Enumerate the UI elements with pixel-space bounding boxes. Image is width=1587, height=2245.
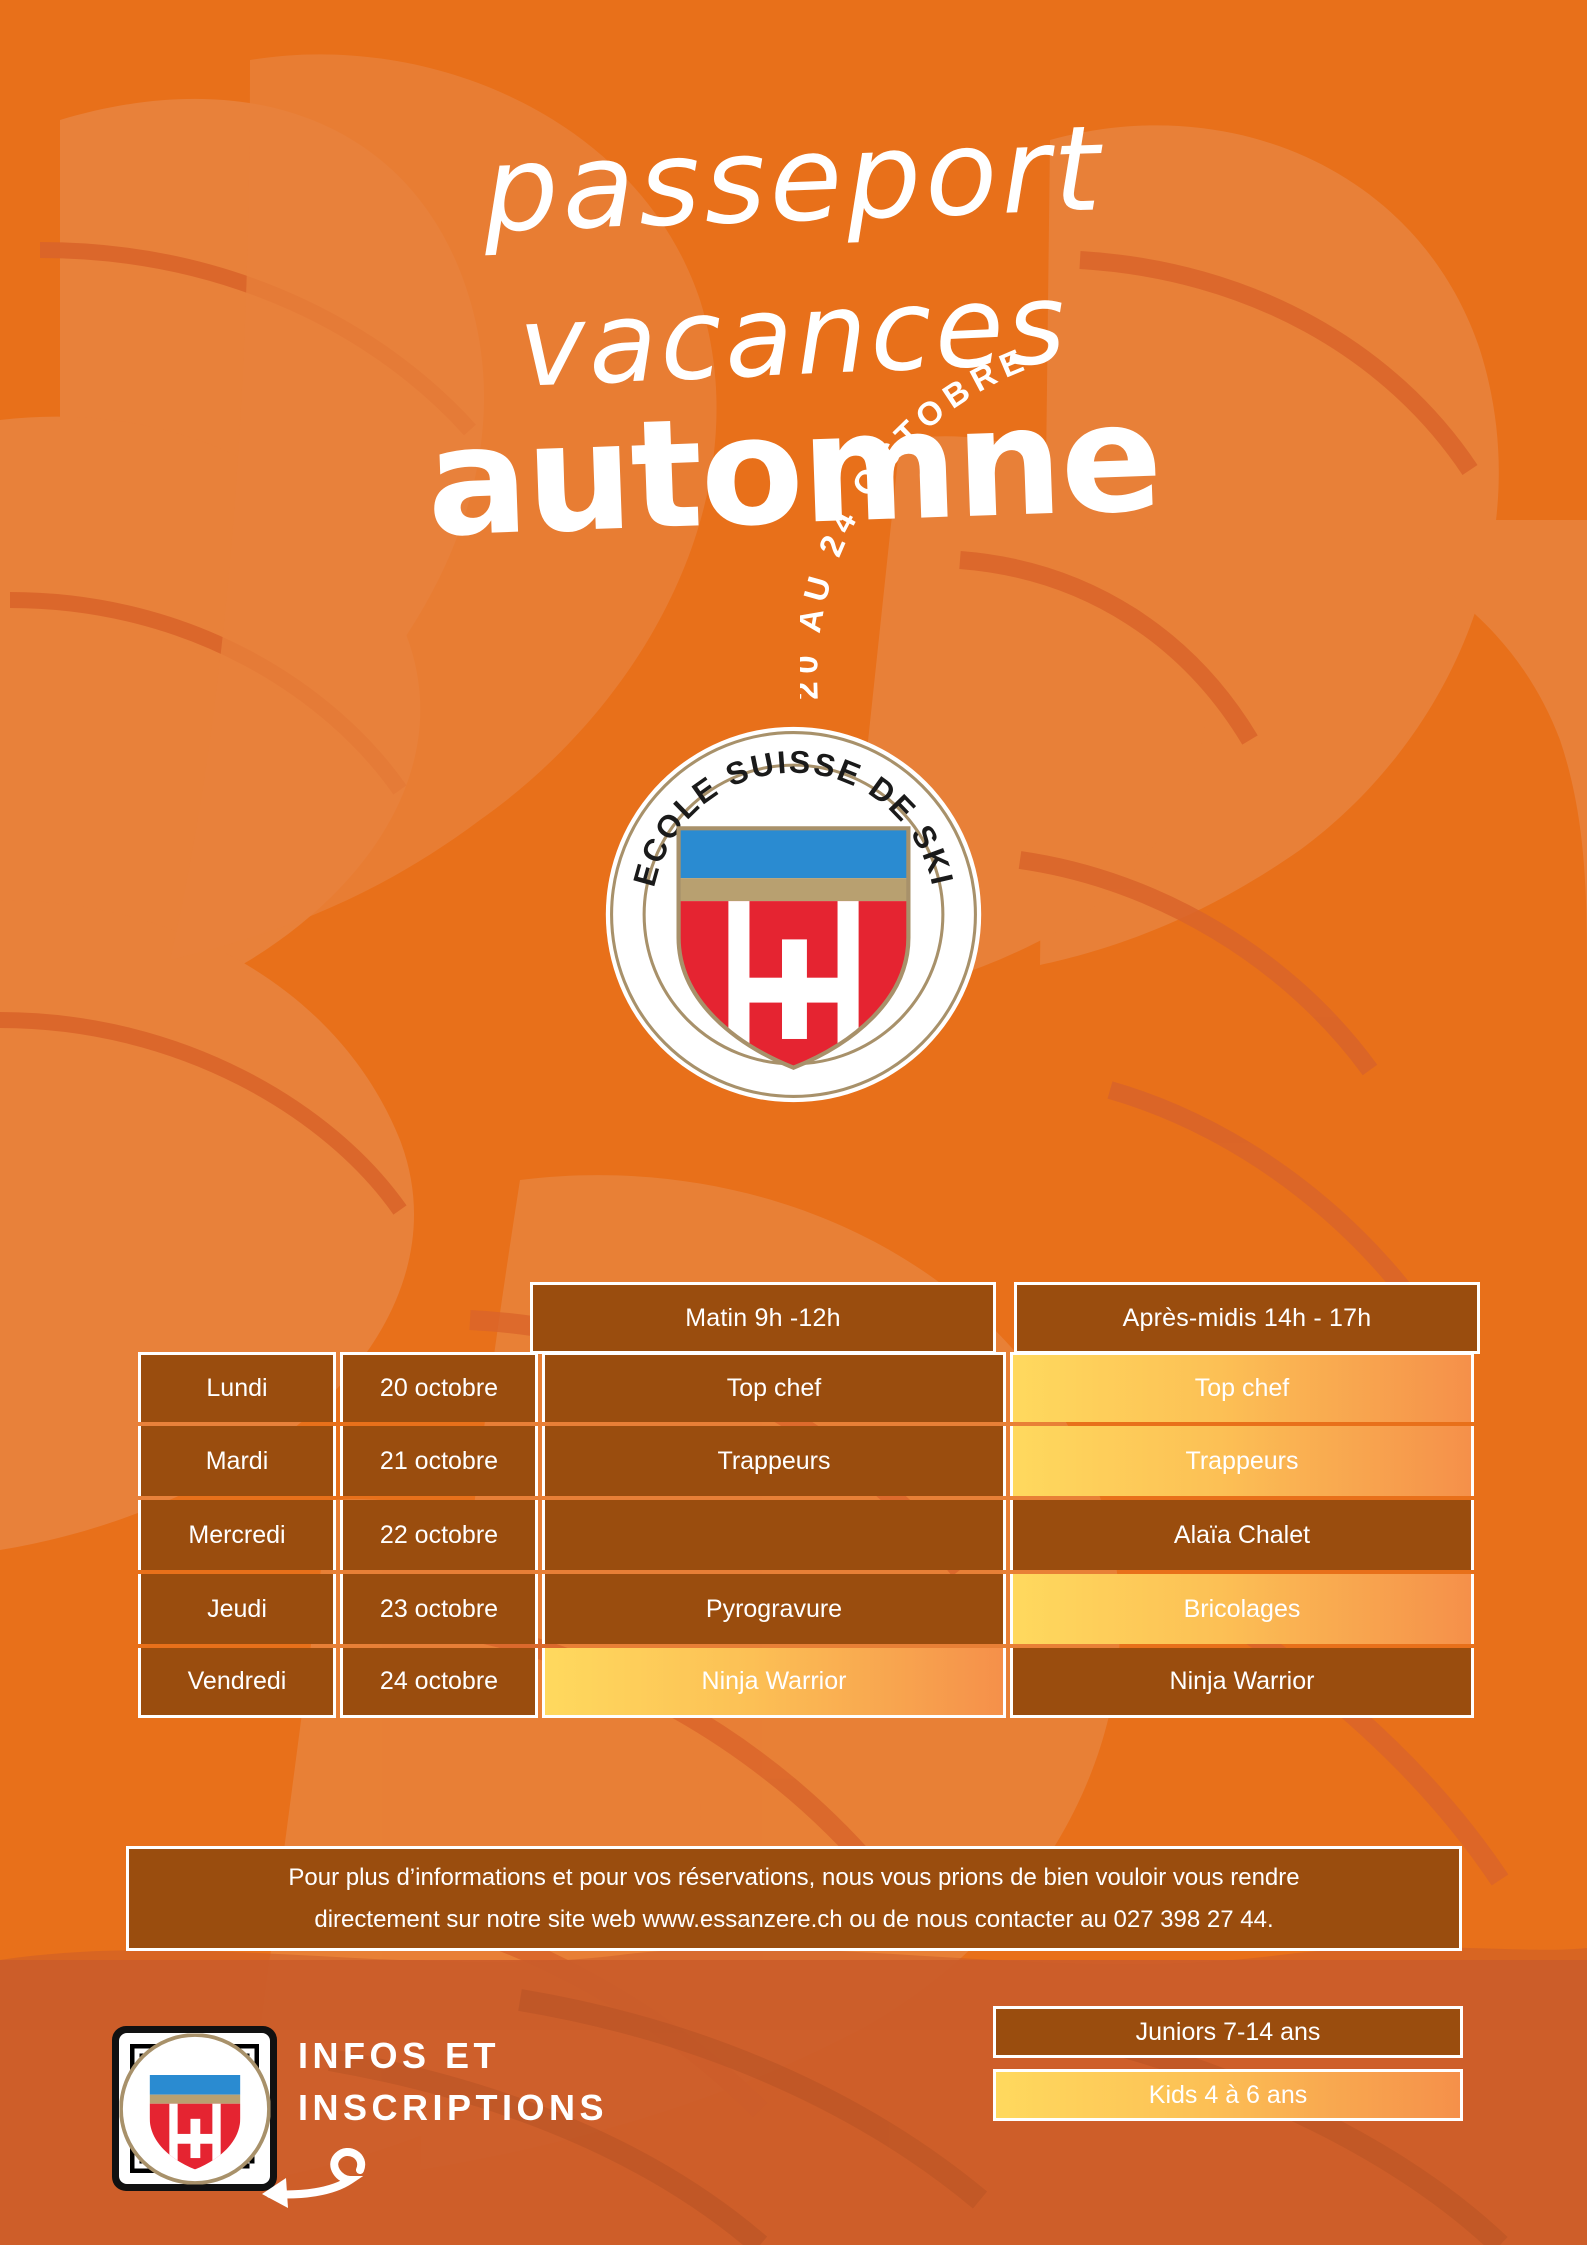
legend: Juniors 7-14 ansKids 4 à 6 ans bbox=[993, 2006, 1463, 2121]
title-line-passeport: passeport bbox=[0, 92, 1587, 265]
info-line-1: Pour plus d’informations et pour vos rés… bbox=[288, 1857, 1299, 1899]
cell-day: Vendredi bbox=[138, 1648, 336, 1718]
date-arc: 20 AU 24 OCTOBRE bbox=[800, 330, 1260, 750]
cell-date: 20 octobre bbox=[340, 1352, 538, 1422]
cell-afternoon: Top chef bbox=[1010, 1352, 1474, 1422]
title-line-vacances: vacances bbox=[0, 245, 1587, 426]
cell-date: 23 octobre bbox=[340, 1574, 538, 1644]
cell-day: Mercredi bbox=[138, 1500, 336, 1570]
legend-item-juniors: Juniors 7-14 ans bbox=[993, 2006, 1463, 2058]
cell-day: Lundi bbox=[138, 1352, 336, 1422]
cell-morning: Top chef bbox=[542, 1352, 1006, 1422]
cell-morning bbox=[542, 1500, 1006, 1570]
date-arc-text: 20 AU 24 OCTOBRE bbox=[800, 339, 1035, 700]
schedule-header-row: Matin 9h -12h Après-midis 14h - 17h bbox=[530, 1282, 1480, 1354]
cell-afternoon: Alaïa Chalet bbox=[1010, 1500, 1474, 1570]
cell-morning: Ninja Warrior bbox=[542, 1648, 1006, 1718]
schedule-table: Lundi20 octobreTop chefTop chefMardi21 o… bbox=[138, 1352, 1480, 1722]
cell-afternoon: Ninja Warrior bbox=[1010, 1648, 1474, 1718]
cell-date: 21 octobre bbox=[340, 1426, 538, 1496]
table-row: Mardi21 octobreTrappeursTrappeurs bbox=[138, 1426, 1480, 1496]
table-row: Lundi20 octobreTop chefTop chef bbox=[138, 1352, 1480, 1422]
table-row: Mercredi22 octobreAlaïa Chalet bbox=[138, 1500, 1480, 1570]
cell-date: 22 octobre bbox=[340, 1500, 538, 1570]
table-row: Jeudi23 octobrePyrogravureBricolages bbox=[138, 1574, 1480, 1644]
infos-inscriptions-heading: INFOS ET INSCRIPTIONS bbox=[298, 2030, 608, 2134]
legend-item-kids: Kids 4 à 6 ans bbox=[993, 2069, 1463, 2121]
cell-afternoon: Trappeurs bbox=[1010, 1426, 1474, 1496]
cell-day: Jeudi bbox=[138, 1574, 336, 1644]
cell-day: Mardi bbox=[138, 1426, 336, 1496]
schedule-header-afternoon: Après-midis 14h - 17h bbox=[1014, 1282, 1480, 1354]
ess-anzere-logo: ECOLE SUISSE DE SKI ANZÈRE bbox=[602, 723, 985, 1106]
info-box: Pour plus d’informations et pour vos rés… bbox=[126, 1846, 1462, 1951]
infos-line-1: INFOS ET bbox=[298, 2030, 608, 2082]
cell-afternoon: Bricolages bbox=[1010, 1574, 1474, 1644]
cell-morning: Pyrogravure bbox=[542, 1574, 1006, 1644]
curly-arrow-icon bbox=[240, 2136, 370, 2216]
schedule-header-morning: Matin 9h -12h bbox=[530, 1282, 996, 1354]
table-row: Vendredi24 octobreNinja WarriorNinja War… bbox=[138, 1648, 1480, 1718]
infos-line-2: INSCRIPTIONS bbox=[298, 2082, 608, 2134]
title-line-automne: automne bbox=[0, 368, 1587, 573]
cell-date: 24 octobre bbox=[340, 1648, 538, 1718]
cell-morning: Trappeurs bbox=[542, 1426, 1006, 1496]
poster-title: passeport vacances automne bbox=[0, 120, 1587, 546]
info-line-2: directement sur notre site web www.essan… bbox=[314, 1899, 1273, 1941]
